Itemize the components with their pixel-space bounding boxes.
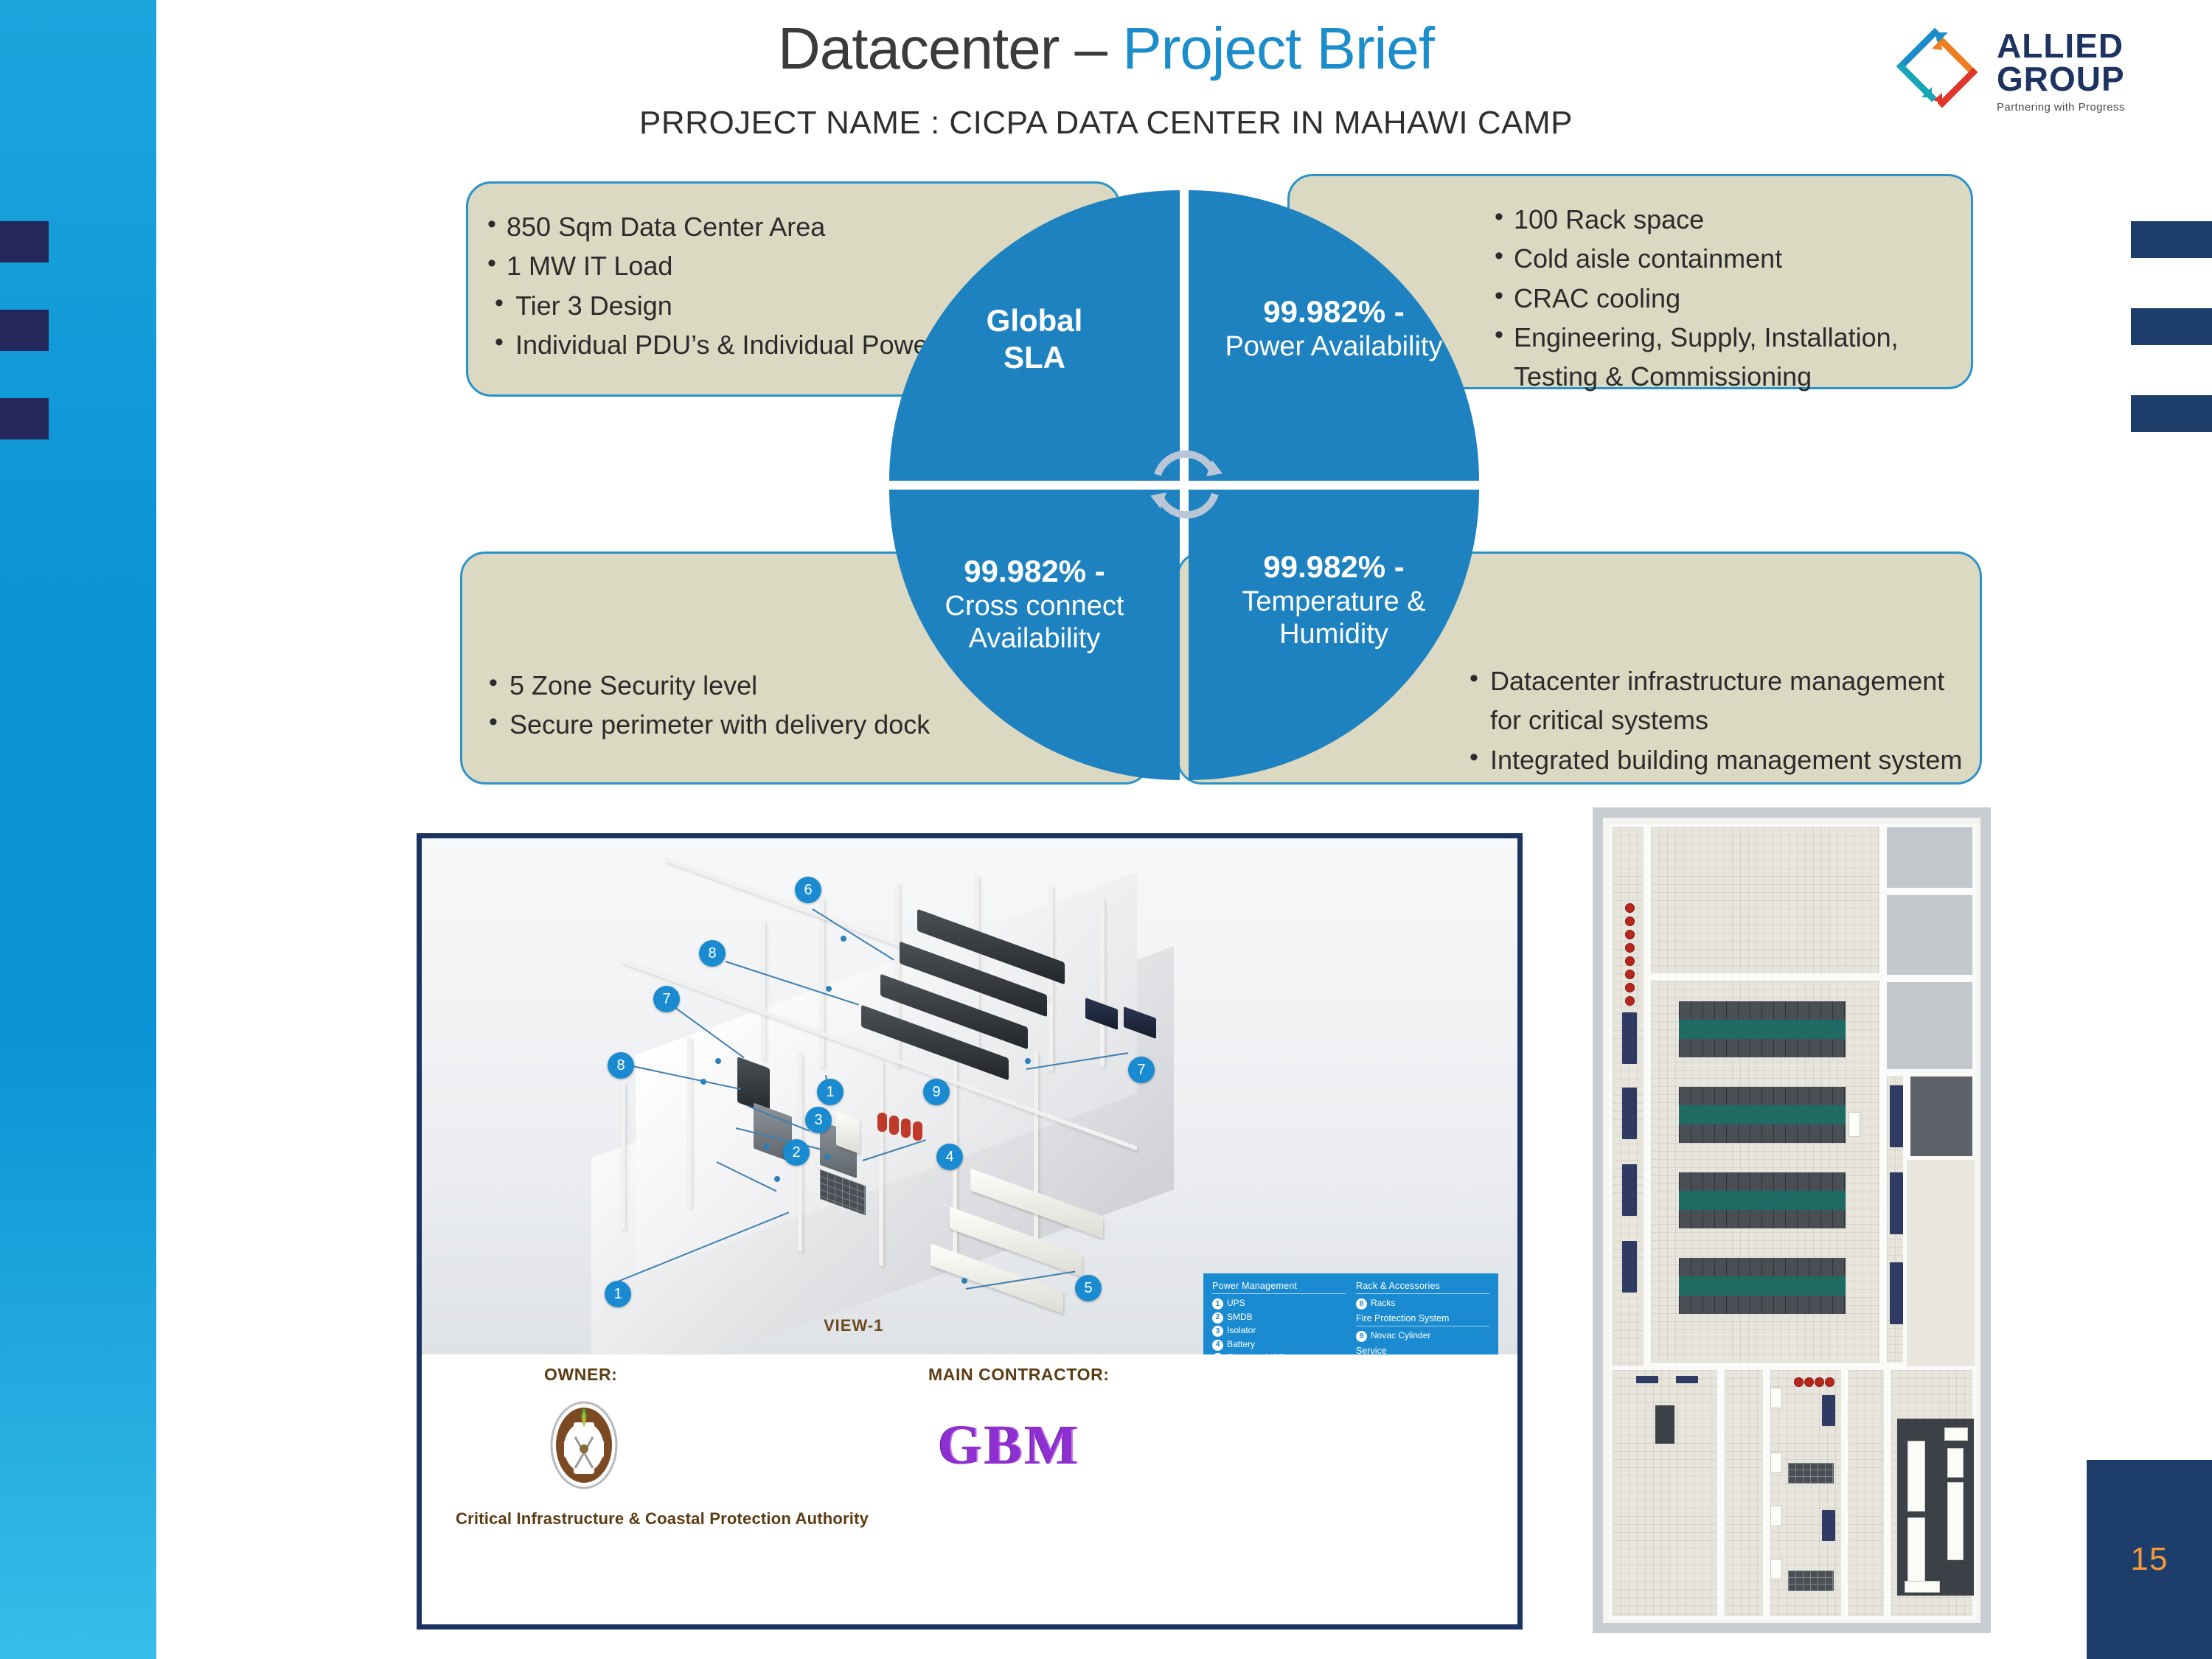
legend-heading-rack-accessories: Rack & Accessories	[1356, 1281, 1489, 1291]
owner-header: OWNER:	[544, 1365, 617, 1385]
sla-quadrant-label: Temperature & Humidity	[1189, 585, 1479, 652]
floorplan-room-r2	[1883, 891, 1976, 978]
sla-quadrant-label: Cross connect Availability	[889, 590, 1180, 656]
allied-group-wordmark: ALLIED GROUP Partnering with Progress	[1997, 21, 2125, 114]
sla-quadrant-global-sla: Global SLA	[889, 190, 1180, 481]
left-decorative-rail	[0, 0, 156, 1659]
page-title: Datacenter – Project Brief	[0, 19, 2212, 78]
right-decorative-bar-1	[2131, 221, 2212, 258]
legend-divider	[1356, 1293, 1489, 1294]
legend-heading-fire-protection: Fire Protection System	[1356, 1313, 1489, 1324]
callout-7b: 7	[1128, 1057, 1155, 1083]
rail-block-1	[0, 221, 49, 262]
render-stage: 6 8 7 7 8 1 3 9 2 4 1 5 Power Management…	[422, 838, 1517, 1354]
legend-heading-power-management: Power Management	[1212, 1281, 1346, 1291]
floorplan-room-b5	[1888, 1366, 1976, 1620]
callout-8: 8	[699, 940, 726, 967]
legend-number: 1	[1212, 1298, 1223, 1310]
isometric-datacenter-model: 6 8 7 7 8 1 3 9 2 4 1 5	[577, 868, 1314, 1340]
callout-6: 6	[795, 877, 821, 903]
global-sla-circle-diagram: Global SLA 99.982% - Power Availability …	[889, 190, 1479, 780]
legend-item: 4Battery	[1212, 1340, 1346, 1351]
callout-5: 5	[1075, 1275, 1102, 1301]
floorplan-room-r5	[1883, 1073, 1907, 1366]
floorplan-room-top-hall	[1647, 824, 1883, 977]
list-item: Integrated building management system	[1456, 740, 1980, 779]
legend-number: 8	[1356, 1298, 1367, 1310]
legend-item: 2SMDB	[1212, 1312, 1346, 1324]
rack-row	[1679, 1001, 1846, 1057]
floorplan-room-b2	[1721, 1366, 1767, 1620]
callout-7: 7	[653, 986, 680, 1012]
cicpa-emblem-icon	[540, 1397, 628, 1493]
page-title-blue: Project Brief	[1122, 15, 1434, 81]
callout-1b: 1	[605, 1281, 631, 1307]
legend-label: UPS	[1227, 1298, 1245, 1308]
rack-row	[1679, 1087, 1846, 1143]
page-title-dark: Datacenter –	[778, 15, 1122, 81]
list-item: Cold aisle containment	[1489, 239, 1971, 278]
floorplan-room-r1	[1883, 824, 1976, 891]
floorplan-room-b4	[1845, 1366, 1888, 1620]
right-decorative-bar-3	[2131, 395, 2212, 432]
legend-item: 9Novac Cylinder	[1356, 1331, 1489, 1342]
logo-tagline: Partnering with Progress	[1997, 101, 2125, 114]
rail-gap	[156, 0, 173, 1659]
legend-item: 1UPS	[1212, 1298, 1346, 1310]
sla-quadrant-temp-humidity: 99.982% - Temperature & Humidity	[1189, 490, 1479, 780]
sla-quadrant-cross-connect: 99.982% - Cross connect Availability	[889, 490, 1180, 780]
floorplan-room-b3	[1767, 1366, 1845, 1620]
sla-quadrant-value: 99.982% -	[1263, 293, 1404, 330]
legend-label: Novac Cylinder	[1371, 1331, 1430, 1340]
legend-item: 3Isolator	[1212, 1326, 1346, 1337]
legend-divider	[1356, 1326, 1489, 1326]
credits-row: OWNER: MAIN CONTRACTOR:	[422, 1354, 1517, 1630]
legend-divider	[1212, 1293, 1346, 1294]
list-item: Datacenter infrastructure management for…	[1456, 661, 1980, 740]
floorplan-room-data-hall	[1647, 977, 1883, 1366]
cycle-arrows-icon	[1138, 437, 1234, 532]
legend-label: Racks	[1371, 1298, 1395, 1308]
callout-8b: 8	[608, 1052, 634, 1079]
sla-quadrant-value: 99.982% -	[1263, 549, 1404, 585]
list-item: Engineering, Supply, Installation, Testi…	[1489, 318, 1971, 397]
callout-2: 2	[783, 1139, 810, 1166]
sla-quadrant-label: Power Availability	[1225, 330, 1442, 364]
card-top-right-list: 100 Rack space Cold aisle containment CR…	[1489, 200, 1971, 396]
callout-1: 1	[817, 1079, 844, 1105]
card-bottom-right-list: Datacenter infrastructure management for…	[1456, 661, 1980, 779]
page-number: 15	[2131, 1541, 2168, 1578]
legend-number: 9	[1356, 1331, 1367, 1342]
allied-group-logo: ALLIED GROUP Partnering with Progress	[1889, 21, 2199, 153]
allied-diamond-arrows-icon	[1889, 21, 1985, 116]
datacenter-3d-render-panel: 6 8 7 7 8 1 3 9 2 4 1 5 Power Management…	[417, 833, 1523, 1630]
page-number-block: 15	[2087, 1460, 2212, 1659]
legend-label: SMDB	[1227, 1312, 1253, 1322]
legend-number: 4	[1212, 1340, 1223, 1351]
gbm-logo: GBM	[938, 1413, 1081, 1478]
floorplan-canvas	[1603, 818, 1980, 1623]
legend-item: 8Racks	[1356, 1298, 1489, 1310]
rail-block-2	[0, 310, 49, 351]
floorplan-room-r3	[1883, 978, 1976, 1073]
rack-row	[1679, 1172, 1846, 1228]
logo-line-2: GROUP	[1997, 63, 2125, 96]
sla-quadrant-label: SLA	[1004, 339, 1065, 376]
rack-row	[1679, 1258, 1846, 1314]
floorplan-door	[1848, 1112, 1860, 1137]
datacenter-floorplan-panel	[1593, 807, 1991, 1633]
legend-label: Isolator	[1227, 1326, 1256, 1335]
view-label: VIEW-1	[824, 1316, 883, 1335]
legend-number: 2	[1212, 1312, 1223, 1324]
floorplan-room-r4	[1907, 1073, 1976, 1160]
page-subtitle: PRROJECT NAME : CICPA DATA CENTER IN MAH…	[0, 105, 2212, 142]
legend-number: 3	[1212, 1326, 1223, 1337]
callout-3: 3	[805, 1107, 832, 1133]
sla-quadrant-value: Global	[987, 302, 1083, 339]
legend-label: Battery	[1227, 1340, 1255, 1349]
callout-4: 4	[936, 1144, 963, 1170]
list-item: 100 Rack space	[1489, 200, 1971, 239]
owner-caption: Critical Infrastructure & Coastal Protec…	[456, 1509, 869, 1528]
floorplan-room-b1	[1609, 1366, 1721, 1620]
list-item: CRAC cooling	[1489, 279, 1971, 318]
rail-block-3	[0, 398, 49, 439]
callout-9: 9	[923, 1079, 950, 1105]
right-decorative-bar-2	[2131, 308, 2212, 345]
logo-line-1: ALLIED	[1997, 29, 2125, 63]
sla-quadrant-value: 99.982% -	[964, 553, 1105, 590]
contractor-header: MAIN CONTRACTOR:	[928, 1365, 1110, 1385]
